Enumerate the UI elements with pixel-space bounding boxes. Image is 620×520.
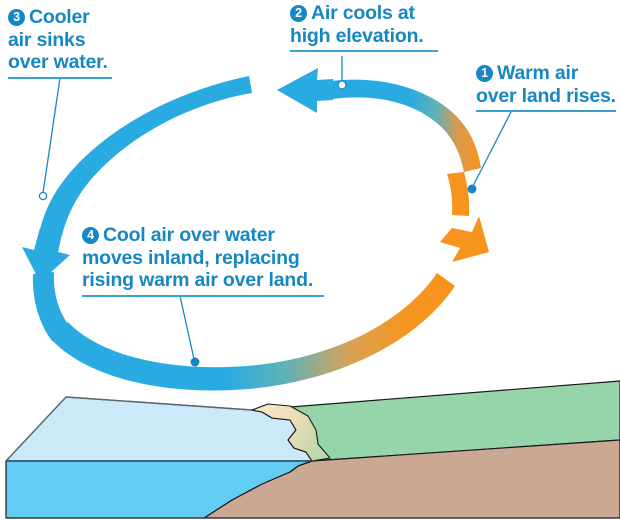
callout-4-line-2: moves inland, replacing bbox=[82, 247, 300, 269]
cooling-arrow-left bbox=[277, 68, 333, 113]
callout-3-line-1: Cooler bbox=[29, 6, 90, 28]
callout-2-underline bbox=[290, 50, 438, 52]
diagram-canvas: 3Cooler air sinks over water. 2Air cools… bbox=[0, 0, 620, 520]
leader-dot-4 bbox=[191, 358, 199, 366]
leader-dot-1 bbox=[468, 185, 476, 193]
callout-2[interactable]: 2Air cools at high elevation. bbox=[290, 2, 438, 52]
callout-4-underline bbox=[82, 295, 324, 297]
band-upper-left-descending bbox=[40, 76, 252, 236]
leader-line-3 bbox=[43, 78, 60, 193]
callout-3-line-2: air sinks bbox=[8, 29, 85, 51]
callout-3[interactable]: 3Cooler air sinks over water. bbox=[8, 6, 112, 79]
callout-2-line-2: high elevation. bbox=[290, 25, 424, 47]
terrain-block bbox=[6, 381, 620, 518]
rising-arrow-up bbox=[440, 216, 489, 262]
leader-dot-2 bbox=[338, 81, 346, 89]
callout-4-line-3: rising warm air over land. bbox=[82, 269, 313, 291]
leader-line-1 bbox=[473, 110, 512, 186]
callout-4-line-1: Cool air over water bbox=[103, 224, 275, 246]
callout-1-number: 1 bbox=[476, 65, 493, 82]
leader-line-4 bbox=[180, 296, 194, 359]
callout-1-line-2: over land rises. bbox=[476, 85, 616, 107]
leader-dot-3 bbox=[39, 192, 46, 199]
callout-1-line-1: Warm air bbox=[497, 62, 578, 84]
callout-1[interactable]: 1Warm air over land rises. bbox=[476, 62, 616, 112]
callout-3-number: 3 bbox=[8, 9, 25, 26]
callout-4[interactable]: 4Cool air over water moves inland, repla… bbox=[82, 224, 324, 297]
callout-1-underline bbox=[476, 110, 616, 112]
callout-2-line-1: Air cools at bbox=[311, 2, 415, 24]
callout-3-line-3: over water. bbox=[8, 51, 108, 73]
callout-4-number: 4 bbox=[82, 227, 99, 244]
band-rising-warm bbox=[447, 172, 469, 216]
leader-lines bbox=[39, 56, 512, 366]
callout-3-underline bbox=[8, 77, 112, 79]
callout-2-number: 2 bbox=[290, 5, 307, 22]
band-upper-cooling bbox=[331, 80, 481, 172]
